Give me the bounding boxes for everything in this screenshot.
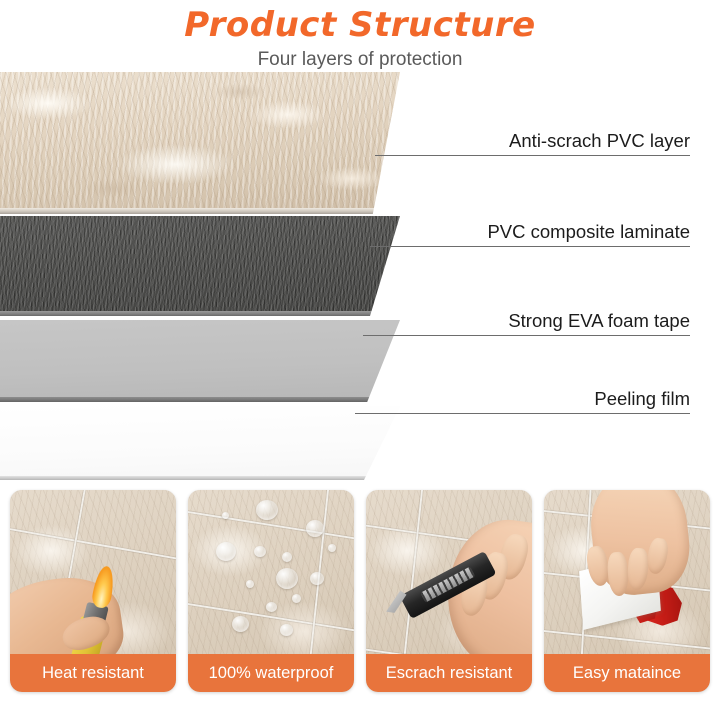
callout-label: PVC composite laminate: [487, 221, 690, 243]
feature-caption: 100% waterproof: [188, 654, 354, 692]
composite-texture-icon: [0, 216, 400, 316]
slab-edge: [0, 397, 400, 402]
feature-scratch-resistant[interactable]: Escrach resistant: [366, 490, 532, 692]
water-droplet: [276, 568, 298, 589]
water-droplet: [292, 594, 301, 603]
layer-stack-diagram: [0, 72, 430, 480]
callout-label: Strong EVA foam tape: [508, 310, 690, 332]
callout-label: Anti-scrach PVC layer: [509, 130, 690, 152]
callout-pvc-composite: PVC composite laminate: [370, 213, 690, 247]
foam-texture-icon: [0, 320, 400, 402]
water-droplet: [232, 616, 249, 632]
leader-line: [375, 155, 690, 156]
callout-eva-foam-tape: Strong EVA foam tape: [363, 302, 690, 336]
slab-edge: [0, 311, 400, 316]
slab-edge: [0, 476, 400, 480]
pvc-composite-slab: [0, 216, 400, 316]
callout-peeling-film: Peeling film: [355, 380, 690, 414]
feature-caption: Heat resistant: [10, 654, 176, 692]
product-structure-infographic: Product Structure Four layers of protect…: [0, 0, 720, 720]
leader-line: [355, 413, 690, 414]
eva-foam-slab: [0, 320, 400, 402]
water-droplet: [306, 520, 324, 537]
water-droplet: [266, 602, 277, 612]
feature-caption: Easy mataince: [544, 654, 710, 692]
feature-panels: Heat resistant: [0, 490, 720, 712]
layer-anti-scratch-pvc: [0, 72, 400, 214]
slab-edge: [0, 208, 400, 214]
water-droplet: [280, 624, 293, 636]
water-droplet: [246, 580, 254, 588]
leader-line: [363, 335, 690, 336]
page-subtitle: Four layers of protection: [0, 44, 720, 71]
anti-scratch-pvc-slab: [0, 72, 400, 214]
callout-anti-scratch-pvc: Anti-scrach PVC layer: [375, 122, 690, 156]
header: Product Structure Four layers of protect…: [0, 0, 720, 71]
stone-texture-icon: [0, 72, 400, 214]
water-droplet: [256, 500, 278, 520]
callout-label: Peeling film: [594, 388, 690, 410]
layer-peeling-film: [0, 406, 400, 480]
feature-easy-maintenance[interactable]: Easy mataince: [544, 490, 710, 692]
layer-pvc-composite: [0, 216, 400, 316]
water-droplet: [328, 544, 336, 552]
leader-line: [370, 246, 690, 247]
film-surface-icon: [0, 406, 400, 480]
feature-heat-resistant[interactable]: Heat resistant: [10, 490, 176, 692]
water-droplet: [254, 546, 266, 557]
water-droplet: [216, 542, 236, 561]
page-title: Product Structure: [0, 0, 720, 44]
water-droplet: [282, 552, 292, 562]
layer-eva-foam-tape: [0, 320, 400, 402]
water-droplet: [310, 572, 324, 585]
feature-caption: Escrach resistant: [366, 654, 532, 692]
water-droplet: [222, 512, 229, 519]
peeling-film-slab: [0, 406, 400, 480]
feature-waterproof[interactable]: 100% waterproof: [188, 490, 354, 692]
